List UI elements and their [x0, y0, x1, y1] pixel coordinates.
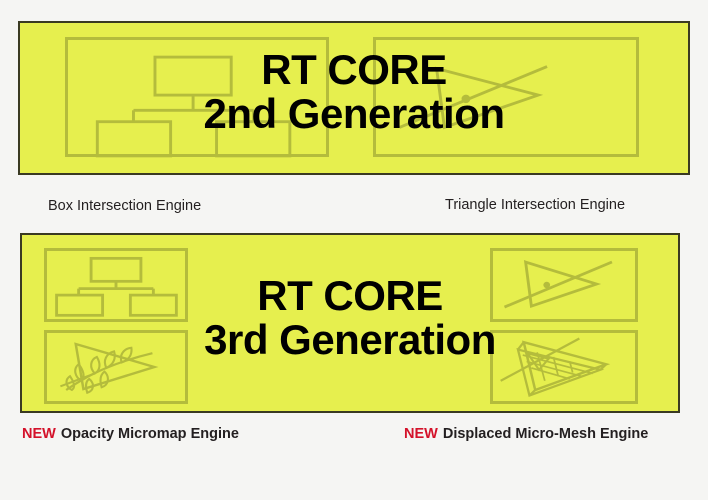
new-badge-displaced-micro-mesh: NEW	[404, 426, 438, 442]
triangle-intersection-engine-block-gen2	[373, 37, 639, 157]
displaced-micro-mesh-icon	[493, 333, 635, 401]
triangle-intersection-engine-block-gen3	[490, 248, 638, 322]
displaced-micro-mesh-engine-block	[490, 330, 638, 404]
triangle-ray-intersection-icon	[376, 40, 636, 154]
box-hierarchy-icon	[68, 40, 326, 154]
caption-opacity-micromap-label: Opacity Micromap Engine	[61, 426, 239, 442]
opacity-micromap-foliage-icon	[47, 333, 185, 401]
rt-core-3rd-generation-panel: RT CORE 3rd Generation	[20, 233, 680, 413]
triangle-ray-intersection-icon	[493, 251, 635, 319]
rt-core-2nd-generation-panel: RT CORE 2nd Generation	[18, 21, 690, 175]
caption-box-intersection-engine: Box Intersection Engine	[48, 198, 201, 214]
new-badge-opacity-micromap: NEW	[22, 426, 56, 442]
caption-displaced-micro-mesh-engine: NEWDisplaced Micro-Mesh Engine	[404, 426, 648, 442]
box-intersection-engine-block-gen3	[44, 248, 188, 322]
caption-displaced-micro-mesh-label: Displaced Micro-Mesh Engine	[443, 426, 648, 442]
caption-opacity-micromap-engine: NEWOpacity Micromap Engine	[22, 426, 239, 442]
box-intersection-engine-block-gen2	[65, 37, 329, 157]
opacity-micromap-engine-block	[44, 330, 188, 404]
box-hierarchy-icon	[47, 251, 185, 319]
caption-triangle-intersection-engine: Triangle Intersection Engine	[445, 197, 625, 213]
